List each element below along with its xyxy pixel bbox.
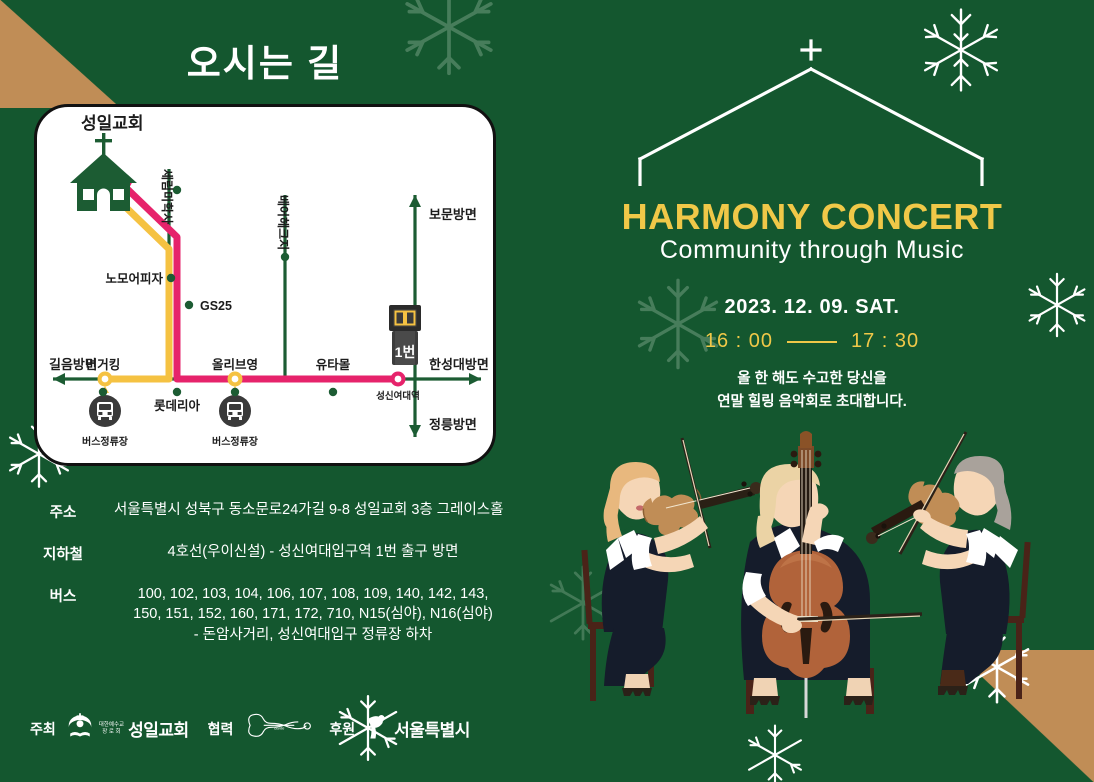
invitation-line-1: 올 한 해도 수고한 당신을 <box>530 368 1094 391</box>
svg-text:롯데리아: 롯데리아 <box>154 398 201 413</box>
credit-host-name: 성일교회 <box>128 716 189 741</box>
map-card[interactable]: 1번 성신여대역 <box>34 104 496 466</box>
time-range-dash <box>787 341 837 343</box>
concert-title: HARMONY CONCERT <box>530 196 1094 238</box>
svg-text:보문방면: 보문방면 <box>429 207 477 222</box>
svg-text:한성대방면: 한성대방면 <box>429 357 489 372</box>
svg-text:올리브영: 올리브영 <box>212 357 258 372</box>
svg-text:성일교회: 성일교회 <box>81 114 144 133</box>
svg-text:노모어피자: 노모어피자 <box>105 271 163 286</box>
map-graphic: 1번 성신여대역 <box>37 107 493 463</box>
church-roof-outline-icon <box>608 14 1028 186</box>
event-panel: HARMONY CONCERT Community through Music … <box>530 0 1094 782</box>
info-row-bus: 버스 100, 102, 103, 104, 106, 107, 108, 10… <box>24 584 524 645</box>
credit-partner-mark: dante <box>242 709 316 748</box>
svg-text:성신여대역: 성신여대역 <box>376 390 420 402</box>
church-emblem-icon <box>65 711 95 746</box>
invitation-line-2: 연말 힐링 음악회로 초대합니다. <box>530 391 1094 414</box>
violinist-right <box>866 432 1031 699</box>
info-row-address: 주소 서울특별시 성북구 동소문로24가길 9-8 성일교회 3층 그레이스홀 <box>24 500 524 522</box>
concert-subtitle: Community through Music <box>530 236 1094 265</box>
seoul-logo-icon <box>364 712 390 745</box>
credit-sponsor-mark: 서울특별시 <box>364 712 470 745</box>
svg-text:GS25: GS25 <box>200 299 232 313</box>
credit-host-mark: 대한예수교 장 로 회 성일교회 <box>65 711 189 746</box>
directions-panel: 오시는 길 <box>0 0 530 782</box>
svg-text:세림미학사: 세림미학사 <box>160 169 175 224</box>
info-value-subway: 4호선(우이신설) - 성신여대입구역 1번 출구 방면 <box>102 542 524 563</box>
concert-poster: 오시는 길 <box>0 0 1094 782</box>
svg-text:버스정류장: 버스정류장 <box>82 435 129 448</box>
invitation-text: 올 한 해도 수고한 당신을 연말 힐링 음악회로 초대합니다. <box>530 368 1094 414</box>
violin-outline-icon: dante <box>242 709 316 748</box>
info-label-subway: 지하철 <box>24 542 102 564</box>
svg-text:길음방면: 길음방면 <box>49 357 97 372</box>
svg-text:버스정류장: 버스정류장 <box>212 435 259 448</box>
credits-row: 주최 대한예수교 장 로 회 성일교회 협력 <box>30 709 470 748</box>
credit-label-partner: 협력 <box>208 719 234 739</box>
info-value-address: 서울특별시 성북구 동소문로24가길 9-8 성일교회 3층 그레이스홀 <box>102 500 524 521</box>
svg-text:dante: dante <box>275 725 286 730</box>
venue-info-list: 주소 서울특별시 성북구 동소문로24가길 9-8 성일교회 3층 그레이스홀 … <box>24 500 524 665</box>
info-label-bus: 버스 <box>24 584 102 606</box>
event-date: 2023. 12. 09. SAT. <box>530 296 1094 319</box>
svg-text:유타몰: 유타몰 <box>316 357 351 372</box>
svg-text:정릉방면: 정릉방면 <box>429 417 477 432</box>
violinist-left <box>581 438 762 701</box>
info-value-bus: 100, 102, 103, 104, 106, 107, 108, 109, … <box>102 584 524 645</box>
svg-text:베어헤크지: 베어헤크지 <box>276 195 291 250</box>
credit-sponsor-name: 서울특별시 <box>394 716 470 741</box>
event-time-range: 16 : 00 17 : 30 <box>530 330 1094 353</box>
event-time-end: 17 : 30 <box>851 330 919 353</box>
svg-text:1번: 1번 <box>395 344 416 360</box>
musicians-illustration <box>570 430 1070 720</box>
cellist-center <box>741 431 922 718</box>
event-time-start: 16 : 00 <box>705 330 773 353</box>
credit-label-host: 주최 <box>30 719 56 739</box>
page-title: 오시는 길 <box>0 33 530 87</box>
info-row-subway: 지하철 4호선(우이신설) - 성신여대입구역 1번 출구 방면 <box>24 542 524 564</box>
credit-label-sponsor: 후원 <box>329 719 355 739</box>
credit-host-sub: 대한예수교 장 로 회 <box>99 722 124 735</box>
info-label-address: 주소 <box>24 500 102 522</box>
